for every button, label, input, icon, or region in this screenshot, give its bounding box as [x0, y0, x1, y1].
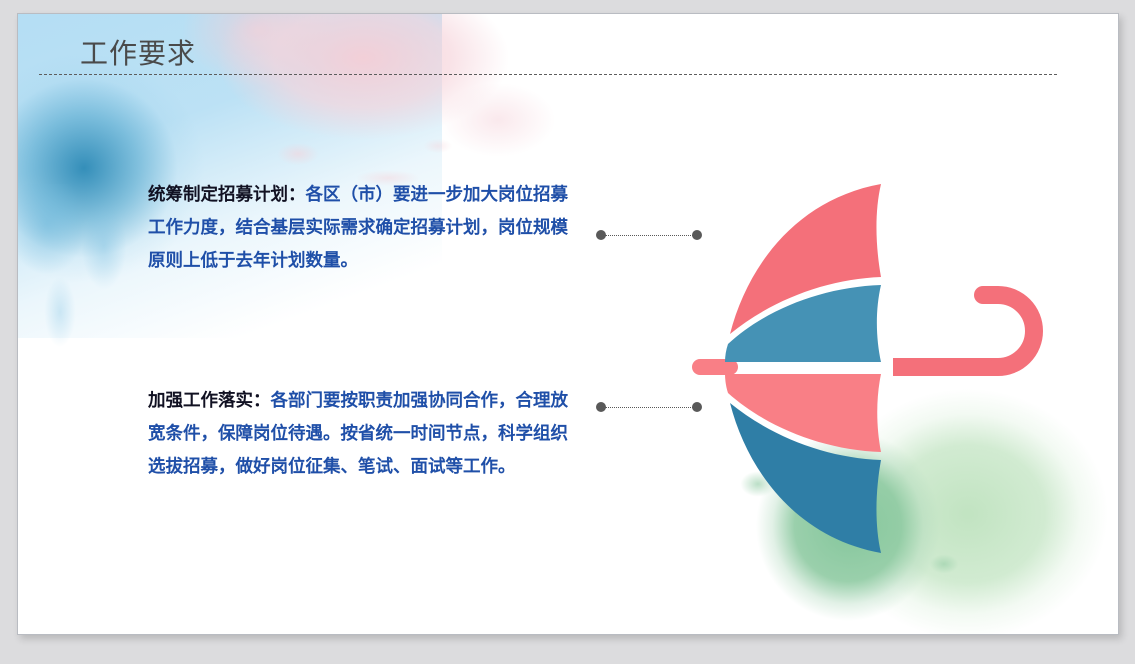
umbrella-handle-group	[893, 295, 1034, 367]
title-divider	[39, 74, 1057, 75]
slide-title: 工作要求	[80, 35, 196, 73]
bullet-block-1: 统筹制定招募计划：各区（市）要进一步加大岗位招募工作力度，结合基层实际需求确定招…	[148, 179, 568, 278]
slide-surface: 工作要求 统筹制定招募计划：各区（市）要进一步加大岗位招募工作力度，结合基层实际…	[17, 13, 1119, 635]
bullet-2-lead: 加强工作落实：	[148, 391, 271, 411]
presentation-canvas: 工作要求 统筹制定招募计划：各区（市）要进一步加大岗位招募工作力度，结合基层实际…	[0, 0, 1135, 664]
umbrella-illustration	[678, 169, 1078, 559]
bullet-1-lead: 统筹制定招募计划：	[148, 185, 306, 205]
bullet-block-2: 加强工作落实：各部门要按职责加强协同合作，合理放宽条件，保障岗位待遇。按省统一时…	[148, 385, 568, 484]
